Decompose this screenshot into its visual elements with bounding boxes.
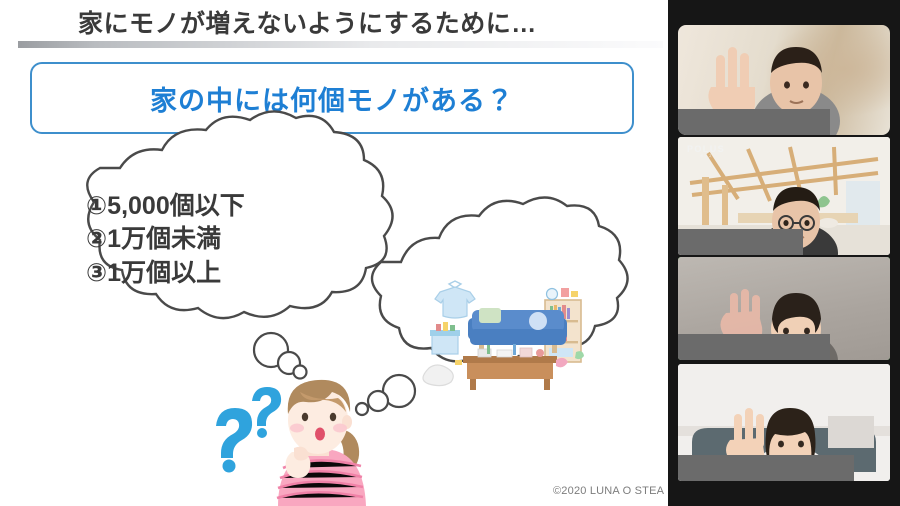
- polus-watermark: POLUSポラス: [687, 144, 725, 159]
- participant-tile-4[interactable]: [678, 364, 890, 481]
- answer-option-3: ③1万個以上: [86, 257, 245, 290]
- video-participants-panel: POLUSポラス: [668, 0, 900, 506]
- thought-tail-left-icon: [254, 333, 307, 379]
- participant-3-name-redacted: [678, 334, 830, 360]
- character-illustration: [277, 380, 366, 506]
- thought-tail-right-icon: [356, 375, 415, 415]
- participant-1-name-redacted: [678, 109, 830, 135]
- participant-tile-3[interactable]: [678, 257, 890, 360]
- presentation-screen: 家にモノが増えないようにするために… 家の中には何個モノがある？: [0, 0, 900, 506]
- copyright-notice: ©2020 LUNA O STEA: [553, 485, 664, 497]
- floor-cushion-icon: [423, 365, 453, 386]
- polus-watermark-sub: ポラス: [687, 154, 725, 159]
- answer-options-list: ①5,000個以下 ②1万個未満 ③1万個以上: [86, 190, 245, 290]
- answer-option-1: ①5,000個以下: [86, 190, 245, 223]
- slide-area: 家にモノが増えないようにするために… 家の中には何個モノがある？: [0, 0, 668, 506]
- participant-4-name-redacted: [678, 455, 854, 481]
- participant-tile-1[interactable]: [678, 25, 890, 135]
- question-marks-icon: [216, 387, 281, 473]
- answer-option-2: ②1万個未満: [86, 223, 245, 256]
- participant-tile-2[interactable]: POLUSポラス: [678, 137, 890, 255]
- participant-2-name-redacted: [678, 229, 803, 255]
